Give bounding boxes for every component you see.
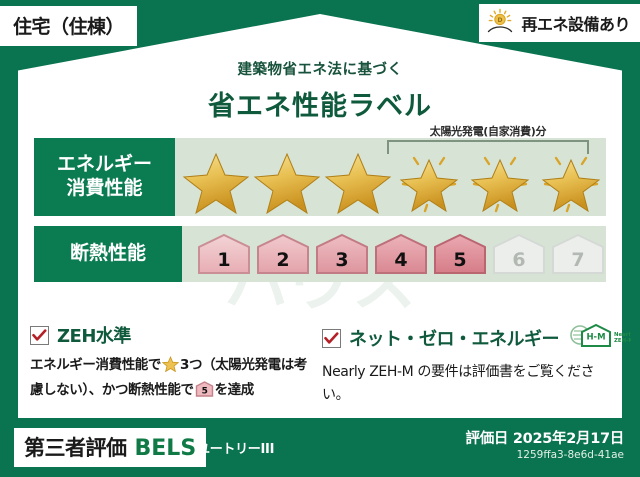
house-step-label: 4 (373, 249, 429, 271)
checkbox-checked-icon (322, 329, 341, 348)
energy-performance-row: エネルギー 消費性能 太陽光発電(自家消費)分 (34, 138, 606, 216)
evaluation-id: 1259ffa3-8e6d-41ae (517, 449, 624, 461)
house-step-label: 7 (550, 249, 606, 271)
house-step-2: 2 (255, 232, 311, 276)
energy-performance-label: ハウス 住宅（住棟） D 再エネ設備あり (0, 0, 640, 477)
insulation-performance-row: 断熱性能 1 (34, 226, 606, 282)
solar-bracket-caption: 太陽光発電(自家消費)分 (387, 123, 589, 139)
renewable-energy-badge: D 再エネ設備あり (479, 4, 640, 42)
claim-body-part1: エネルギー消費性能で (30, 357, 161, 373)
house-step-7: 7 (550, 232, 606, 276)
house-step-3: 3 (314, 232, 370, 276)
solar-bracket (387, 140, 589, 154)
house-step-label: 1 (196, 249, 252, 271)
evaluation-date-label: 評価日 (466, 431, 509, 447)
svg-text:D: D (498, 17, 503, 24)
insulation-performance-rating: 1 2 (182, 226, 606, 282)
bels-badge: 第三者評価 BELS (14, 428, 206, 467)
star-icon-solar (465, 148, 535, 214)
claim-net-zero-energy: ネット・ゼロ・エネルギー H-M Nearly ZEH-M Nearly ZEH… (322, 322, 610, 406)
insulation-label: 断熱性能 (70, 242, 146, 266)
house-step-1: 1 (196, 232, 252, 276)
claim-title: ZEH水準 (57, 322, 131, 348)
house-step-label: 2 (255, 249, 311, 271)
insulation-performance-label-box: 断熱性能 (34, 226, 182, 282)
evaluation-date-value: 2025年2月17日 (513, 431, 624, 447)
zeh-m-house-icon: H-M Nearly ZEH-M (569, 322, 631, 354)
bels-jp-label: 第三者評価 (24, 432, 127, 462)
star-icon-solar (536, 148, 606, 214)
star-icon-solar (394, 148, 464, 214)
energy-label-line1: エネルギー (57, 153, 152, 177)
evaluation-date: 評価日 2025年2月17日 (466, 427, 624, 448)
star-icon (181, 148, 251, 214)
star-icon (323, 148, 393, 214)
claim-title: ネット・ゼロ・エネルギー (349, 325, 559, 351)
star-icon (252, 148, 322, 214)
label-title: 省エネ性能ラベル (0, 84, 640, 123)
star-icon-inline (162, 360, 179, 376)
label-title-block: 建築物省エネ法に基づく 省エネ性能ラベル (0, 58, 640, 123)
sun-icon: D (485, 8, 515, 38)
claim-body: エネルギー消費性能で3つ（太陽光発電は考慮しない）、かつ断熱性能で5を達成 (30, 355, 312, 405)
house-step-5: 5 (432, 232, 488, 276)
bels-en-label: BELS (135, 436, 197, 461)
house-5-icon-inline: 5 (195, 385, 214, 401)
svg-text:H-M: H-M (586, 333, 605, 343)
energy-label-line2: 消費性能 (66, 177, 142, 201)
svg-text:ZEH-M: ZEH-M (614, 338, 631, 344)
svg-text:5: 5 (201, 386, 207, 396)
house-step-label: 3 (314, 249, 370, 271)
project-name: ユートリーIII (197, 438, 274, 457)
claim-body: Nearly ZEH-M の要件は評価書をご覧ください。 (322, 361, 610, 406)
performance-rows: エネルギー 消費性能 太陽光発電(自家消費)分 (34, 138, 606, 292)
energy-performance-rating: 太陽光発電(自家消費)分 (175, 138, 606, 216)
claim-zeh-standard: ZEH水準 エネルギー消費性能で3つ（太陽光発電は考慮しない）、かつ断熱性能で5… (30, 322, 312, 406)
category-chip: 住宅（住棟） (0, 6, 137, 46)
claims-section: ZEH水準 エネルギー消費性能で3つ（太陽光発電は考慮しない）、かつ断熱性能で5… (30, 322, 610, 406)
claim-header: ネット・ゼロ・エネルギー H-M Nearly ZEH-M (322, 322, 610, 354)
renewable-badge-label: 再エネ設備あり (521, 11, 630, 35)
energy-performance-label-box: エネルギー 消費性能 (34, 138, 175, 216)
house-step-label: 6 (491, 249, 547, 271)
house-step-4: 4 (373, 232, 429, 276)
category-chip-label: 住宅（住棟） (13, 16, 124, 38)
claim-header: ZEH水準 (30, 322, 312, 348)
label-subtitle: 建築物省エネ法に基づく (0, 58, 640, 79)
checkbox-checked-icon (30, 326, 49, 345)
house-step-label: 5 (432, 249, 488, 271)
house-rating-scale: 1 2 (188, 232, 606, 276)
house-step-6: 6 (491, 232, 547, 276)
claim-body-part3: を達成 (215, 382, 254, 398)
label-footer: 第三者評価 BELS ユートリーIII 評価日 2025年2月17日 1259f… (0, 418, 640, 477)
